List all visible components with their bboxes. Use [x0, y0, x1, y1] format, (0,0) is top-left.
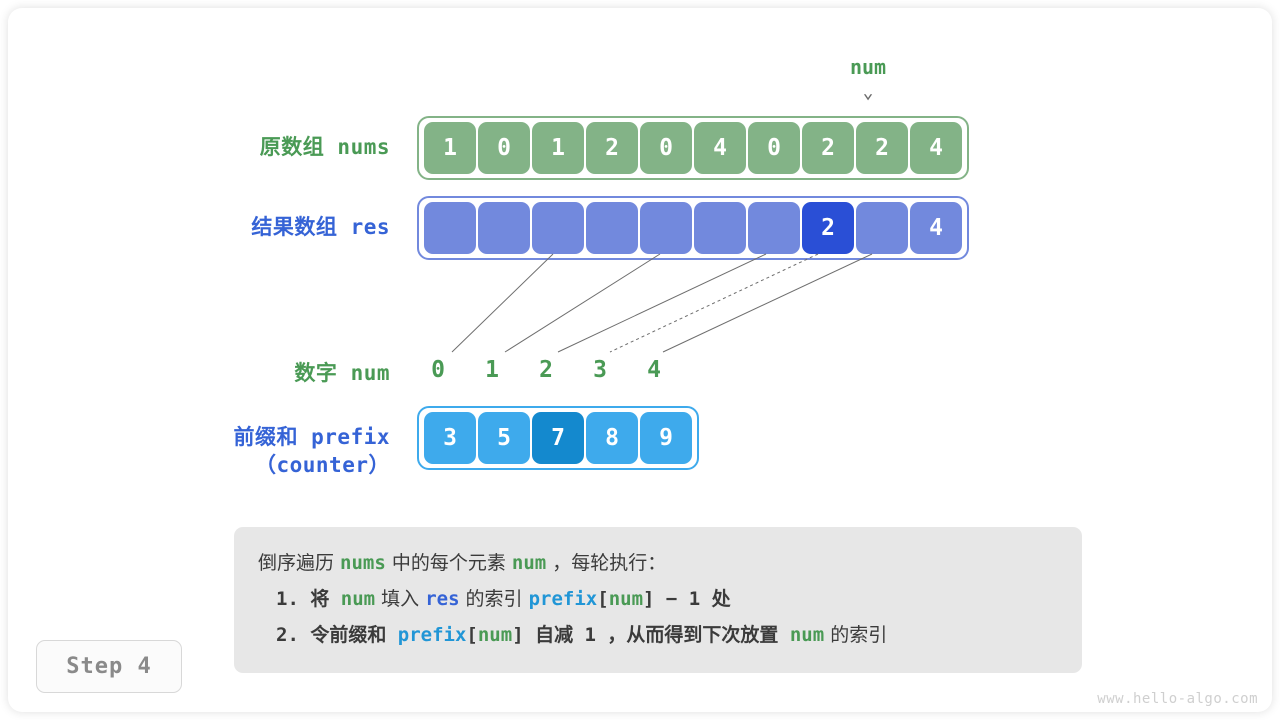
- prefix-cell-1: 5: [478, 412, 530, 464]
- num-digit-2: 2: [531, 357, 561, 383]
- prefix-cell-0: 3: [424, 412, 476, 464]
- nums-cell-8: 2: [856, 122, 908, 174]
- note-text: 2. 令前缀和: [276, 624, 398, 646]
- diagram-canvas: num ⌄ 原数组 nums 1012040224 结果数组 res 24 数字…: [0, 0, 1280, 720]
- nums-cell-4: 0: [640, 122, 692, 174]
- note-text: ] 自减 1 ，从而得到下次放置: [512, 624, 790, 646]
- nums-cell-9: 4: [910, 122, 962, 174]
- res-cell-8: [856, 202, 908, 254]
- note-line-3: 2. 令前缀和 prefix[num] 自减 1 ，从而得到下次放置 num 的…: [258, 617, 1058, 653]
- note-text: ] − 1 处: [643, 588, 731, 610]
- nums-array: 1012040224: [417, 116, 969, 180]
- label-nums-var: nums: [337, 135, 390, 159]
- note-token-num: num: [478, 624, 512, 646]
- res-cell-4: [640, 202, 692, 254]
- note-text: 中的每个元素: [386, 552, 512, 574]
- res-array: 24: [417, 196, 969, 260]
- explanation-note: 倒序遍历 nums 中的每个元素 num ，每轮执行： 1. 将 num 填入 …: [234, 527, 1082, 673]
- note-text: 填入: [375, 588, 425, 610]
- watermark: www.hello-algo.com: [1097, 691, 1258, 707]
- note-token-num: num: [341, 588, 375, 610]
- note-token-num: num: [790, 624, 824, 646]
- note-token-prefix: prefix: [398, 624, 467, 646]
- label-prefix-var: prefix: [311, 425, 390, 449]
- label-nums-cn: 原数组: [260, 135, 325, 159]
- note-text: [: [466, 624, 477, 646]
- step-badge: Step 4: [36, 640, 182, 693]
- res-cell-2: [532, 202, 584, 254]
- res-cell-0: [424, 202, 476, 254]
- nums-cell-1: 0: [478, 122, 530, 174]
- res-cell-1: [478, 202, 530, 254]
- num-digit-3: 3: [585, 357, 615, 383]
- nums-cell-6: 0: [748, 122, 800, 174]
- label-res-cn: 结果数组: [251, 215, 337, 239]
- note-text: [: [597, 588, 608, 610]
- nums-cell-5: 4: [694, 122, 746, 174]
- label-num-digits-cn: 数字: [294, 361, 337, 385]
- label-res-var: res: [351, 215, 390, 239]
- res-cell-7: 2: [802, 202, 854, 254]
- res-cell-6: [748, 202, 800, 254]
- label-num-digits: 数字 num: [150, 359, 390, 387]
- note-text: 倒序遍历: [258, 552, 340, 574]
- num-digit-4: 4: [639, 357, 669, 383]
- label-prefix-cn: 前缀和: [233, 425, 298, 449]
- nums-cell-3: 2: [586, 122, 638, 174]
- res-cell-9: 4: [910, 202, 962, 254]
- label-nums: 原数组 nums: [140, 133, 390, 161]
- label-prefix: 前缀和 prefix （counter）: [100, 423, 390, 480]
- prefix-array: 35789: [417, 406, 699, 470]
- num-pointer: num ⌄: [828, 55, 908, 102]
- note-line-1: 倒序遍历 nums 中的每个元素 num ，每轮执行：: [258, 545, 1058, 581]
- nums-cell-2: 1: [532, 122, 584, 174]
- num-pointer-arrow-icon: ⌄: [828, 84, 908, 102]
- res-cell-3: [586, 202, 638, 254]
- nums-cell-7: 2: [802, 122, 854, 174]
- num-digit-1: 1: [477, 357, 507, 383]
- note-token-nums: nums: [340, 552, 386, 574]
- note-text: ，每轮执行：: [546, 552, 666, 574]
- res-cell-5: [694, 202, 746, 254]
- label-res: 结果数组 res: [110, 213, 390, 241]
- num-pointer-label: num: [850, 55, 886, 79]
- note-token-num: num: [609, 588, 643, 610]
- note-token-num: num: [512, 552, 546, 574]
- note-token-res: res: [425, 588, 459, 610]
- note-text: 的索引: [824, 624, 887, 646]
- note-text: 1. 将: [276, 588, 341, 610]
- num-digit-0: 0: [423, 357, 453, 383]
- note-line-2: 1. 将 num 填入 res 的索引 prefix[num] − 1 处: [258, 581, 1058, 617]
- prefix-cell-3: 8: [586, 412, 638, 464]
- label-num-digits-var: num: [351, 361, 390, 385]
- note-text: 的索引: [460, 588, 529, 610]
- nums-cell-0: 1: [424, 122, 476, 174]
- prefix-cell-2: 7: [532, 412, 584, 464]
- label-prefix-line1: 前缀和 prefix: [100, 423, 390, 451]
- note-token-prefix: prefix: [529, 588, 598, 610]
- prefix-cell-4: 9: [640, 412, 692, 464]
- label-prefix-line2: （counter）: [100, 451, 390, 479]
